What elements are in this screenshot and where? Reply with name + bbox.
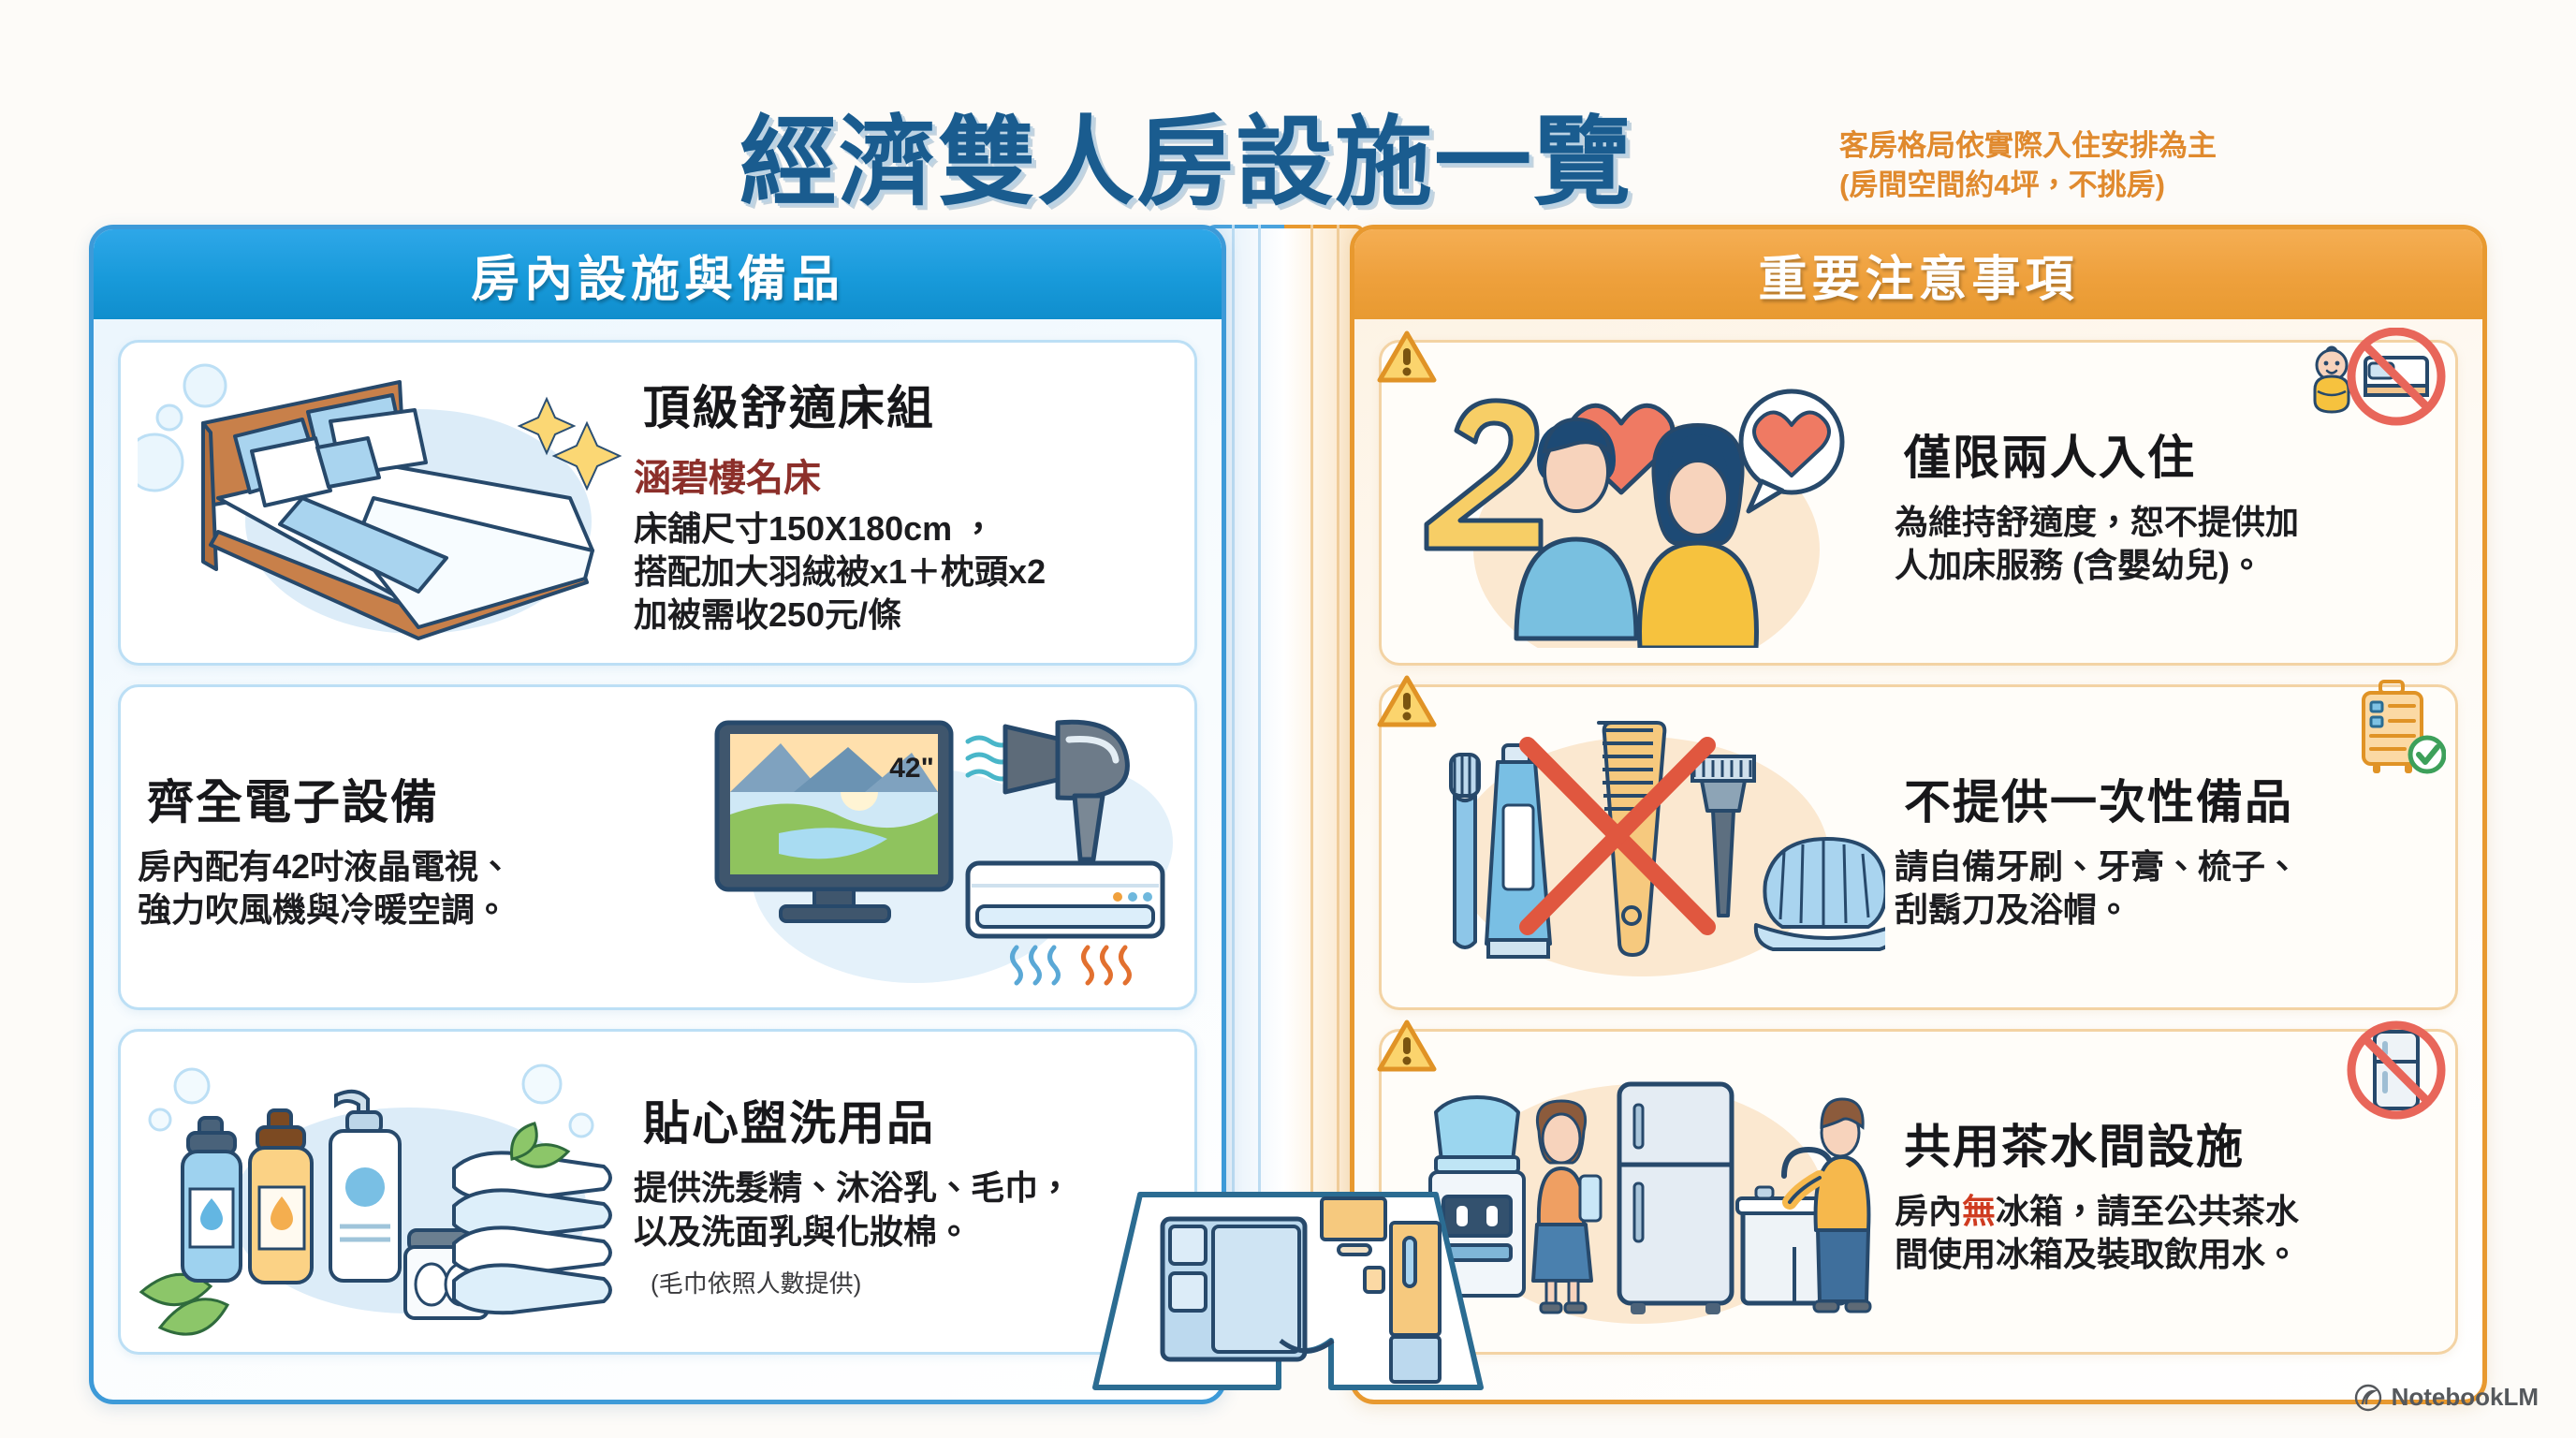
spine-line — [1232, 225, 1235, 1208]
card-no-disposables-line-2: 刮鬍刀及浴帽。 — [1895, 888, 2438, 932]
card-shared-pantry-line-1: 房內無冰箱，請至公共茶水 — [1895, 1190, 2438, 1233]
notebooklm-watermark-label: NotebookLM — [2392, 1383, 2539, 1412]
card-shared-pantry-line-2: 間使用冰箱及裝取飲用水。 — [1895, 1233, 2438, 1276]
card-toiletries[interactable]: 貼心盥洗用品 提供洗髮精、沐浴乳、毛巾， 以及洗面乳與化妝棉。 (毛巾依照人數提… — [118, 1029, 1197, 1355]
spine-line — [1337, 225, 1339, 1208]
card-shared-pantry-title: 共用茶水間設施 — [1895, 1108, 2258, 1181]
tv-size-badge: 42" — [889, 753, 934, 784]
card-electronics-text: 齊全電子設備 房內配有42吋液晶電視、 強力吹風機與冷暖空調。 — [138, 763, 691, 932]
warning-triangle-icon — [1376, 330, 1438, 386]
room-floorplan-illustration — [1073, 1170, 1503, 1404]
suitcase-check-icon — [2349, 680, 2446, 783]
card-bed-subtitle: 涵碧樓名床 — [634, 448, 1178, 502]
notebooklm-logo-icon — [2354, 1384, 2382, 1412]
toiletries-towels-illustration — [138, 1047, 624, 1337]
warning-triangle-icon — [1376, 1019, 1438, 1075]
card-two-person-line-1: 為維持舒適度，恕不提供加 — [1895, 501, 2438, 544]
card-bed-title: 頂級舒適床組 — [634, 369, 948, 442]
left-panel: 房內設施與備品 — [89, 225, 1226, 1404]
warning-triangle-icon — [1376, 674, 1438, 730]
subtitle-line-1: 客房格局依實際入住安排為主 — [1839, 126, 2345, 166]
card-bed[interactable]: 頂級舒適床組 涵碧樓名床 床舖尺寸150X180cm ， 搭配加大羽絨被x1＋枕… — [118, 340, 1197, 666]
card-electronics-title: 齊全電子設備 — [138, 763, 452, 836]
book-spine — [1206, 225, 1365, 1208]
left-card-list: 頂級舒適床組 涵碧樓名床 床舖尺寸150X180cm ， 搭配加大羽絨被x1＋枕… — [94, 319, 1222, 1375]
card-no-disposables[interactable]: 不提供一次性備品 請自備牙刷、牙膏、梳子、 刮鬍刀及浴帽。 — [1379, 684, 2458, 1010]
no-extra-bed-icon — [2341, 328, 2452, 433]
spine-line — [1258, 225, 1261, 1208]
card-electronics[interactable]: 齊全電子設備 房內配有42吋液晶電視、 強力吹風機與冷暖空調。 — [118, 684, 1197, 1010]
right-card-list: 僅限兩人入住 為維持舒適度，恕不提供加 人加床服務 (含嬰幼兒)。 — [1354, 319, 2482, 1375]
card-two-person-limit[interactable]: 僅限兩人入住 為維持舒適度，恕不提供加 人加床服務 (含嬰幼兒)。 — [1379, 340, 2458, 666]
card-two-person-text: 僅限兩人入住 為維持舒適度，恕不提供加 人加床服務 (含嬰幼兒)。 — [1885, 418, 2438, 587]
card-two-person-title: 僅限兩人入住 — [1895, 418, 2209, 492]
card-electronics-line-2: 強力吹風機與冷暖空調。 — [138, 888, 676, 932]
right-panel: 重要注意事項 — [1350, 225, 2487, 1404]
card-bed-text: 頂級舒適床組 涵碧樓名床 床舖尺寸150X180cm ， 搭配加大羽絨被x1＋枕… — [624, 369, 1178, 637]
card-bed-line-3: 加被需收250元/條 — [634, 594, 1178, 637]
card-shared-pantry[interactable]: 共用茶水間設施 房內無冰箱，請至公共茶水 間使用冰箱及裝取飲用水。 — [1379, 1029, 2458, 1355]
card-electronics-line-1: 房內配有42吋液晶電視、 — [138, 845, 676, 888]
right-panel-heading: 重要注意事項 — [1354, 229, 2482, 319]
page-title: 經濟雙人房設施一覽 — [739, 82, 1632, 224]
card-two-person-line-2: 人加床服務 (含嬰幼兒)。 — [1895, 544, 2438, 587]
card-bed-line-1: 床舖尺寸150X180cm ， — [634, 507, 1178, 550]
left-panel-heading: 房內設施與備品 — [94, 229, 1222, 319]
header-subtitle: 客房格局依實際入住安排為主 (房間空間約4坪，不挑房) — [1839, 126, 2345, 205]
bed-illustration — [138, 358, 624, 648]
subtitle-line-2: (房間空間約4坪，不挑房) — [1839, 166, 2345, 205]
no-fridge-icon — [2343, 1020, 2450, 1125]
card-bed-line-2: 搭配加大羽絨被x1＋枕頭x2 — [634, 550, 1178, 594]
notebooklm-watermark: NotebookLM — [2354, 1383, 2539, 1412]
card-no-disposables-line-1: 請自備牙刷、牙膏、梳子、 — [1895, 845, 2438, 888]
card-toiletries-title: 貼心盥洗用品 — [634, 1084, 948, 1157]
card-shared-pantry-text: 共用茶水間設施 房內無冰箱，請至公共茶水 間使用冰箱及裝取飲用水。 — [1885, 1108, 2438, 1276]
couple-hearts-illustration — [1398, 358, 1885, 648]
spine-line — [1310, 225, 1313, 1208]
card-no-disposables-text: 不提供一次性備品 請自備牙刷、牙膏、梳子、 刮鬍刀及浴帽。 — [1885, 763, 2438, 932]
card-no-disposables-title: 不提供一次性備品 — [1895, 763, 2306, 836]
toothbrush-comb-razor-cap-crossed-illustration — [1398, 702, 1885, 992]
tv-hairdryer-aircon-illustration: 42" — [691, 702, 1178, 992]
infographic-root: 經濟雙人房設施一覽 客房格局依實際入住安排為主 (房間空間約4坪，不挑房) 房內… — [0, 0, 2576, 1438]
header: 經濟雙人房設施一覽 客房格局依實際入住安排為主 (房間空間約4坪，不挑房) — [0, 37, 2576, 178]
